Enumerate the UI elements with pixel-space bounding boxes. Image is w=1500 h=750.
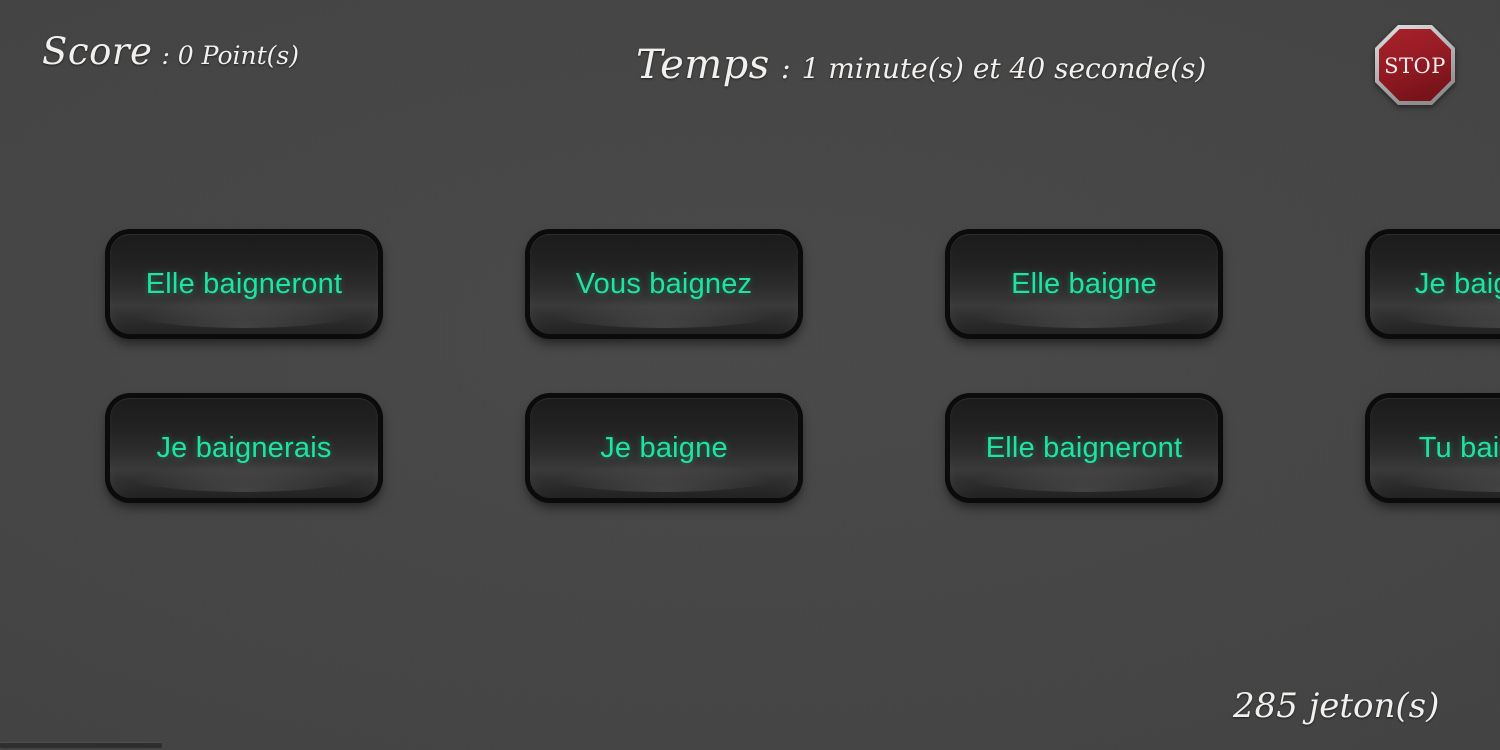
answer-button-label: Elle baigneront bbox=[986, 432, 1182, 464]
answer-button-label: Je baigne bbox=[600, 432, 728, 464]
octagon-stop-icon: STOP bbox=[1374, 24, 1456, 106]
answer-button-label: Vous baignez bbox=[576, 268, 753, 300]
answer-button-label: Elle baigneront bbox=[146, 268, 342, 300]
answer-button-grid: Elle baigneront Vous baignez Elle baigne… bbox=[110, 234, 1500, 498]
answer-button-6[interactable]: Je baigne bbox=[530, 398, 798, 498]
timer-display: Temps : 1 minute(s) et 40 seconde(s) bbox=[636, 42, 1206, 88]
tokens-display: 285 jeton(s) bbox=[1233, 686, 1439, 726]
score-value: : 0 Point(s) bbox=[161, 41, 299, 70]
answer-button-8[interactable]: Tu baigneras bbox=[1370, 398, 1500, 498]
timer-value: 1 minute(s) et 40 seconde(s) bbox=[802, 52, 1207, 85]
score-display: Score : 0 Point(s) bbox=[42, 30, 299, 73]
answer-button-7[interactable]: Elle baigneront bbox=[950, 398, 1218, 498]
answer-button-label: Je baigneront bbox=[1415, 268, 1500, 300]
answer-button-3[interactable]: Elle baigne bbox=[950, 234, 1218, 334]
answer-button-2[interactable]: Vous baignez bbox=[530, 234, 798, 334]
horizontal-scrollbar[interactable] bbox=[0, 742, 162, 748]
timer-label: Temps bbox=[636, 42, 770, 88]
answer-button-1[interactable]: Elle baigneront bbox=[110, 234, 378, 334]
timer-separator: : bbox=[781, 51, 791, 85]
answer-button-label: Je baignerais bbox=[156, 432, 331, 464]
answer-button-label: Elle baigne bbox=[1011, 268, 1157, 300]
stop-button[interactable]: STOP bbox=[1374, 24, 1456, 106]
answer-button-4[interactable]: Je baigneront bbox=[1370, 234, 1500, 334]
stop-label: STOP bbox=[1384, 54, 1446, 78]
game-screen: Score : 0 Point(s) Temps : 1 minute(s) e… bbox=[0, 0, 1500, 750]
answer-button-5[interactable]: Je baignerais bbox=[110, 398, 378, 498]
score-label: Score bbox=[42, 30, 152, 73]
answer-button-label: Tu baigneras bbox=[1419, 432, 1500, 464]
